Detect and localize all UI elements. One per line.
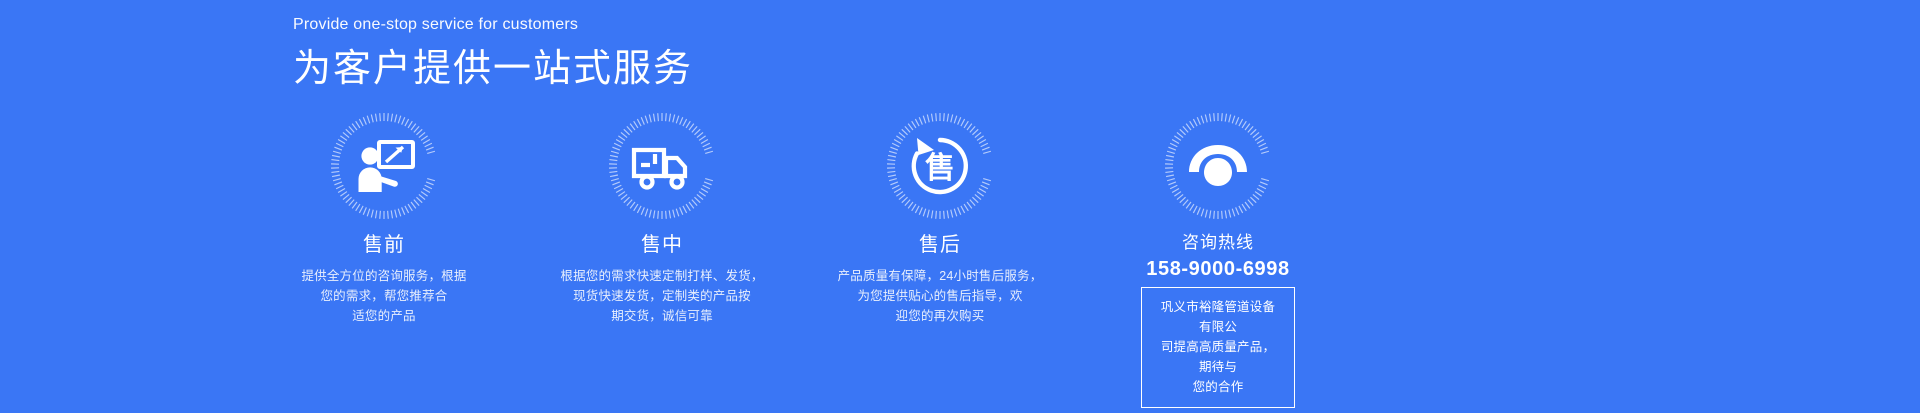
card-title-presale: 售前 bbox=[363, 232, 405, 258]
service-card-hotline[interactable]: 咨询热线 158-9000-6998 巩义市裕隆管道设备有限公 司提高高质量产品… bbox=[1079, 112, 1357, 408]
card-line: 根据您的需求快速定制打样、发货， bbox=[560, 266, 763, 286]
card-line: 产品质量有保障，24小时售后服务， bbox=[838, 266, 1043, 286]
card-line: 现货快速发货，定制类的产品按 bbox=[560, 286, 763, 306]
delivery-truck-icon bbox=[627, 131, 697, 201]
service-card-presale[interactable]: 售前 提供全方位的咨询服务，根据 您的需求，帮您推荐合 适您的产品 bbox=[245, 112, 523, 408]
icon-wrap-hotline bbox=[1164, 112, 1272, 220]
service-card-aftersale[interactable]: 售 售后 产品质量有保障，24小时售后服务， 为您提供贴心的售后指导，欢 迎您的… bbox=[801, 112, 1079, 408]
service-banner: Provide one-stop service for customers 为… bbox=[0, 0, 1920, 413]
svg-text:售: 售 bbox=[925, 152, 955, 185]
company-line: 巩义市裕隆管道设备有限公 bbox=[1156, 297, 1280, 337]
service-cards: 售前 提供全方位的咨询服务，根据 您的需求，帮您推荐合 适您的产品 bbox=[245, 112, 1545, 408]
card-body-presale: 提供全方位的咨询服务，根据 您的需求，帮您推荐合 适您的产品 bbox=[301, 266, 466, 326]
card-line: 期交货，诚信可靠 bbox=[560, 306, 763, 326]
card-body-aftersale: 产品质量有保障，24小时售后服务， 为您提供贴心的售后指导，欢 迎您的再次购买 bbox=[838, 266, 1043, 326]
heading-block: Provide one-stop service for customers 为… bbox=[293, 14, 693, 92]
service-card-insale[interactable]: 售中 根据您的需求快速定制打样、发货， 现货快速发货，定制类的产品按 期交货，诚… bbox=[523, 112, 801, 408]
hotline-number[interactable]: 158-9000-6998 bbox=[1146, 256, 1289, 282]
icon-wrap-presale bbox=[330, 112, 438, 220]
card-line: 您的需求，帮您推荐合 bbox=[301, 286, 466, 306]
card-line: 为您提供贴心的售后指导，欢 bbox=[838, 286, 1043, 306]
card-title-insale: 售中 bbox=[641, 232, 683, 258]
eyebrow-text: Provide one-stop service for customers bbox=[293, 14, 693, 36]
company-info-box: 巩义市裕隆管道设备有限公 司提高高质量产品，期待与 您的合作 bbox=[1141, 287, 1295, 408]
card-title-hotline: 咨询热线 bbox=[1182, 232, 1254, 254]
card-line: 提供全方位的咨询服务，根据 bbox=[301, 266, 466, 286]
page-title: 为客户提供一站式服务 bbox=[293, 46, 693, 92]
icon-wrap-insale bbox=[608, 112, 716, 220]
company-line: 您的合作 bbox=[1156, 377, 1280, 397]
card-body-insale: 根据您的需求快速定制打样、发货， 现货快速发货，定制类的产品按 期交货，诚信可靠 bbox=[560, 266, 763, 326]
card-title-aftersale: 售后 bbox=[919, 232, 961, 258]
card-line: 迎您的再次购买 bbox=[838, 306, 1043, 326]
card-line: 适您的产品 bbox=[301, 306, 466, 326]
company-line: 司提高高质量产品，期待与 bbox=[1156, 337, 1280, 377]
icon-wrap-aftersale: 售 bbox=[886, 112, 994, 220]
presenter-board-icon bbox=[349, 131, 419, 201]
after-sale-refresh-icon: 售 bbox=[905, 131, 975, 201]
telephone-icon bbox=[1183, 131, 1253, 201]
